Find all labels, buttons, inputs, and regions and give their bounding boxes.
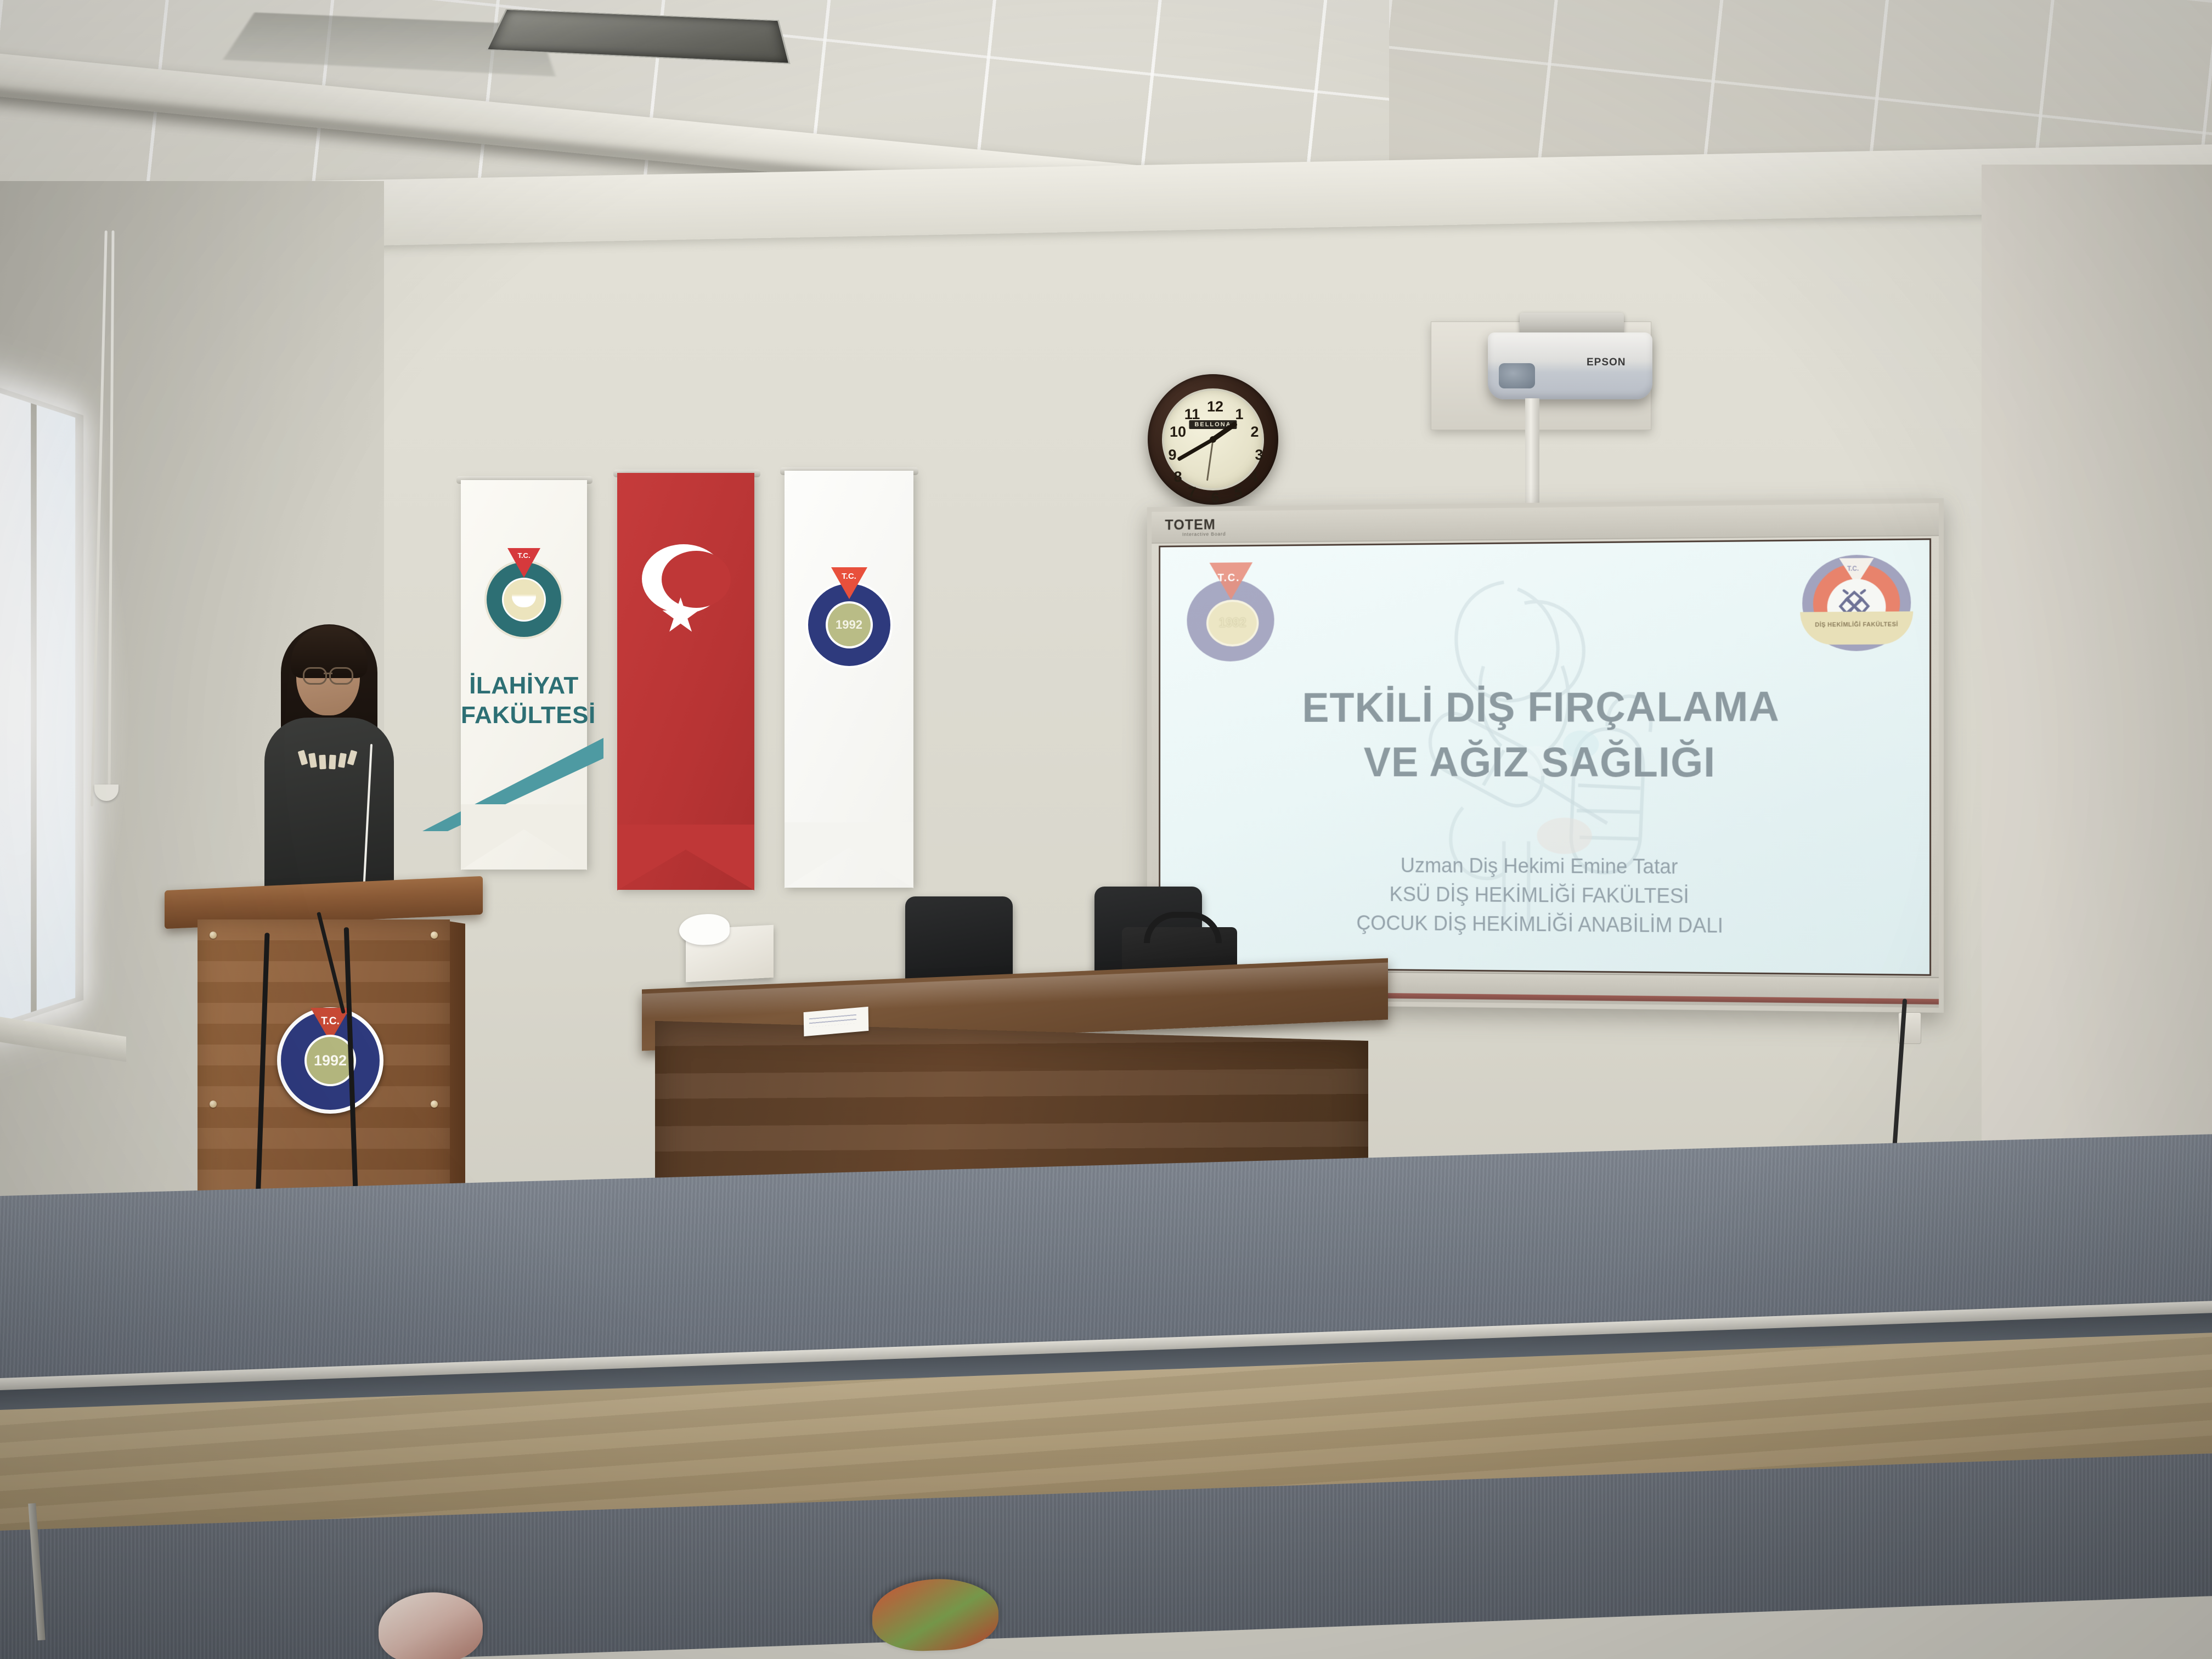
necklace-bead-4 bbox=[329, 755, 336, 770]
necklace bbox=[300, 751, 358, 769]
slide-ksu-center: 1992 bbox=[1206, 600, 1259, 647]
slide-logo-dentistry-faculty: T.C. 2015 DİŞ HEKİMLİĞİ FAKÜLT bbox=[1802, 550, 1911, 661]
interactive-whiteboard[interactable]: TOTEM Interactive Board bbox=[1147, 498, 1944, 1013]
slide-ksu-tc-label: T.C. bbox=[1217, 572, 1240, 585]
necklace-bead-3 bbox=[319, 755, 326, 770]
podium-stud-ml bbox=[210, 1101, 217, 1108]
window bbox=[0, 384, 83, 1031]
banner-ksu-university: T.C. 1992 bbox=[785, 471, 913, 888]
ksu-banner-seal-year: 1992 bbox=[836, 618, 862, 632]
clock-numeral-5: 5 bbox=[1229, 483, 1248, 501]
clock-numeral-9: 9 bbox=[1163, 445, 1182, 464]
window-mullion bbox=[31, 403, 37, 1012]
seminar-room-photo: T.C. İLAHİYAT FAKÜLTESİ T.C. 1992 bbox=[0, 0, 2212, 1659]
ksu-banner-seal-center: 1992 bbox=[826, 601, 873, 648]
dentistry-banner-text: DİŞ HEKİMLİĞİ FAKÜLTESİ bbox=[1815, 621, 1898, 628]
clock-numeral-1: 1 bbox=[1230, 405, 1249, 424]
clock-numeral-6: 6 bbox=[1206, 488, 1224, 507]
audience-member-headscarf-2 bbox=[872, 1577, 998, 1652]
banner-ilahiyat-label-line1: İLAHİYAT bbox=[461, 672, 587, 699]
dentistry-banner-ribbon: DİŞ HEKİMLİĞİ FAKÜLTESİ bbox=[1800, 611, 1913, 645]
presenter bbox=[236, 620, 422, 905]
necklace-bead-5 bbox=[338, 753, 347, 768]
clock-second-hand bbox=[1206, 439, 1214, 481]
ilahiyat-seal-center bbox=[502, 578, 546, 622]
projector: EPSON bbox=[1488, 332, 1652, 399]
podium-emblem-tc-label: T.C. bbox=[321, 1015, 340, 1028]
necklace-bead-6 bbox=[347, 750, 358, 765]
crescent-and-star-icon bbox=[642, 544, 730, 632]
slide-subtitle-line-3: ÇOCUK DİŞ HEKİMLİĞİ ANABİLİM DALI bbox=[1160, 911, 1929, 940]
slide-subtitle-line-2: KSÜ DİŞ HEKİMLİĞİ FAKÜLTESİ bbox=[1160, 882, 1929, 910]
glasses-icon bbox=[303, 667, 353, 681]
clock-numeral-2: 2 bbox=[1245, 422, 1264, 441]
banner-ilahiyat-fakultesi: T.C. İLAHİYAT FAKÜLTESİ bbox=[461, 480, 587, 870]
banner-ilahiyat-label-line2: FAKÜLTESİ bbox=[461, 702, 587, 729]
dentistry-tc-label: T.C. bbox=[1847, 565, 1859, 572]
ilahiyat-seal-ring: T.C. bbox=[487, 562, 561, 637]
projector-lens-icon bbox=[1499, 363, 1535, 388]
banner-ksu-swallowtail bbox=[785, 822, 913, 888]
clock-minute-hand bbox=[1177, 438, 1214, 461]
banner-ilahiyat-swallowtail bbox=[461, 804, 587, 870]
slide-ksu-year: 1992 bbox=[1219, 616, 1246, 630]
ksu-banner-seal-tc-label: T.C. bbox=[842, 572, 856, 581]
clock-center-pin bbox=[1210, 436, 1216, 443]
podium-stud-tr bbox=[431, 932, 438, 939]
projector-brand-label: EPSON bbox=[1587, 357, 1626, 369]
banner-flag-swallowtail bbox=[617, 825, 754, 890]
clock-numeral-3: 3 bbox=[1250, 445, 1268, 464]
podium-stud-tl bbox=[210, 932, 217, 939]
whiteboard-brand-sub-label: Interactive Board bbox=[1182, 531, 1226, 537]
banner-turkish-flag bbox=[617, 473, 754, 890]
ksu-banner-seal-ring: T.C. 1992 bbox=[808, 584, 890, 666]
podium-stud-mr bbox=[431, 1101, 438, 1108]
ilahiyat-seal-tc-label: T.C. bbox=[517, 551, 530, 560]
clock-numeral-8: 8 bbox=[1169, 467, 1187, 486]
glasses-bridge bbox=[324, 673, 332, 674]
audience-member-headscarf-1 bbox=[379, 1590, 483, 1659]
slide-title-line-2: VE AĞIZ SAĞLIĞI bbox=[1160, 737, 1929, 787]
window-glass bbox=[0, 391, 75, 1025]
glasses-lens-left bbox=[303, 667, 327, 685]
presenter-torso bbox=[264, 718, 394, 905]
tissue-box[interactable] bbox=[686, 925, 774, 982]
necklace-bead-1 bbox=[298, 750, 308, 765]
whiteboard-top-strip: TOTEM Interactive Board bbox=[1152, 503, 1939, 544]
clock-numeral-11: 11 bbox=[1183, 405, 1201, 424]
slide-subtitle-line-1: Uzman Diş Hekimi Emine Tatar bbox=[1160, 854, 1929, 881]
wall-clock: BELLONA 12 1 2 3 4 5 6 7 8 9 10 11 bbox=[1148, 374, 1278, 505]
clock-face: BELLONA 12 1 2 3 4 5 6 7 8 9 10 11 bbox=[1162, 388, 1264, 490]
slide-title-line-1: ETKİLİ DİŞ FIRÇALAMA bbox=[1160, 681, 1929, 732]
open-book-icon bbox=[512, 596, 536, 607]
clock-numeral-12: 12 bbox=[1206, 397, 1224, 416]
necklace-bead-2 bbox=[308, 753, 317, 768]
projection-screen[interactable]: T.C. 1992 T.C. bbox=[1159, 538, 1931, 976]
slide-logo-ksu: T.C. 1992 bbox=[1182, 560, 1279, 662]
glasses-lens-right bbox=[329, 667, 353, 685]
clock-numeral-10: 10 bbox=[1169, 422, 1187, 441]
